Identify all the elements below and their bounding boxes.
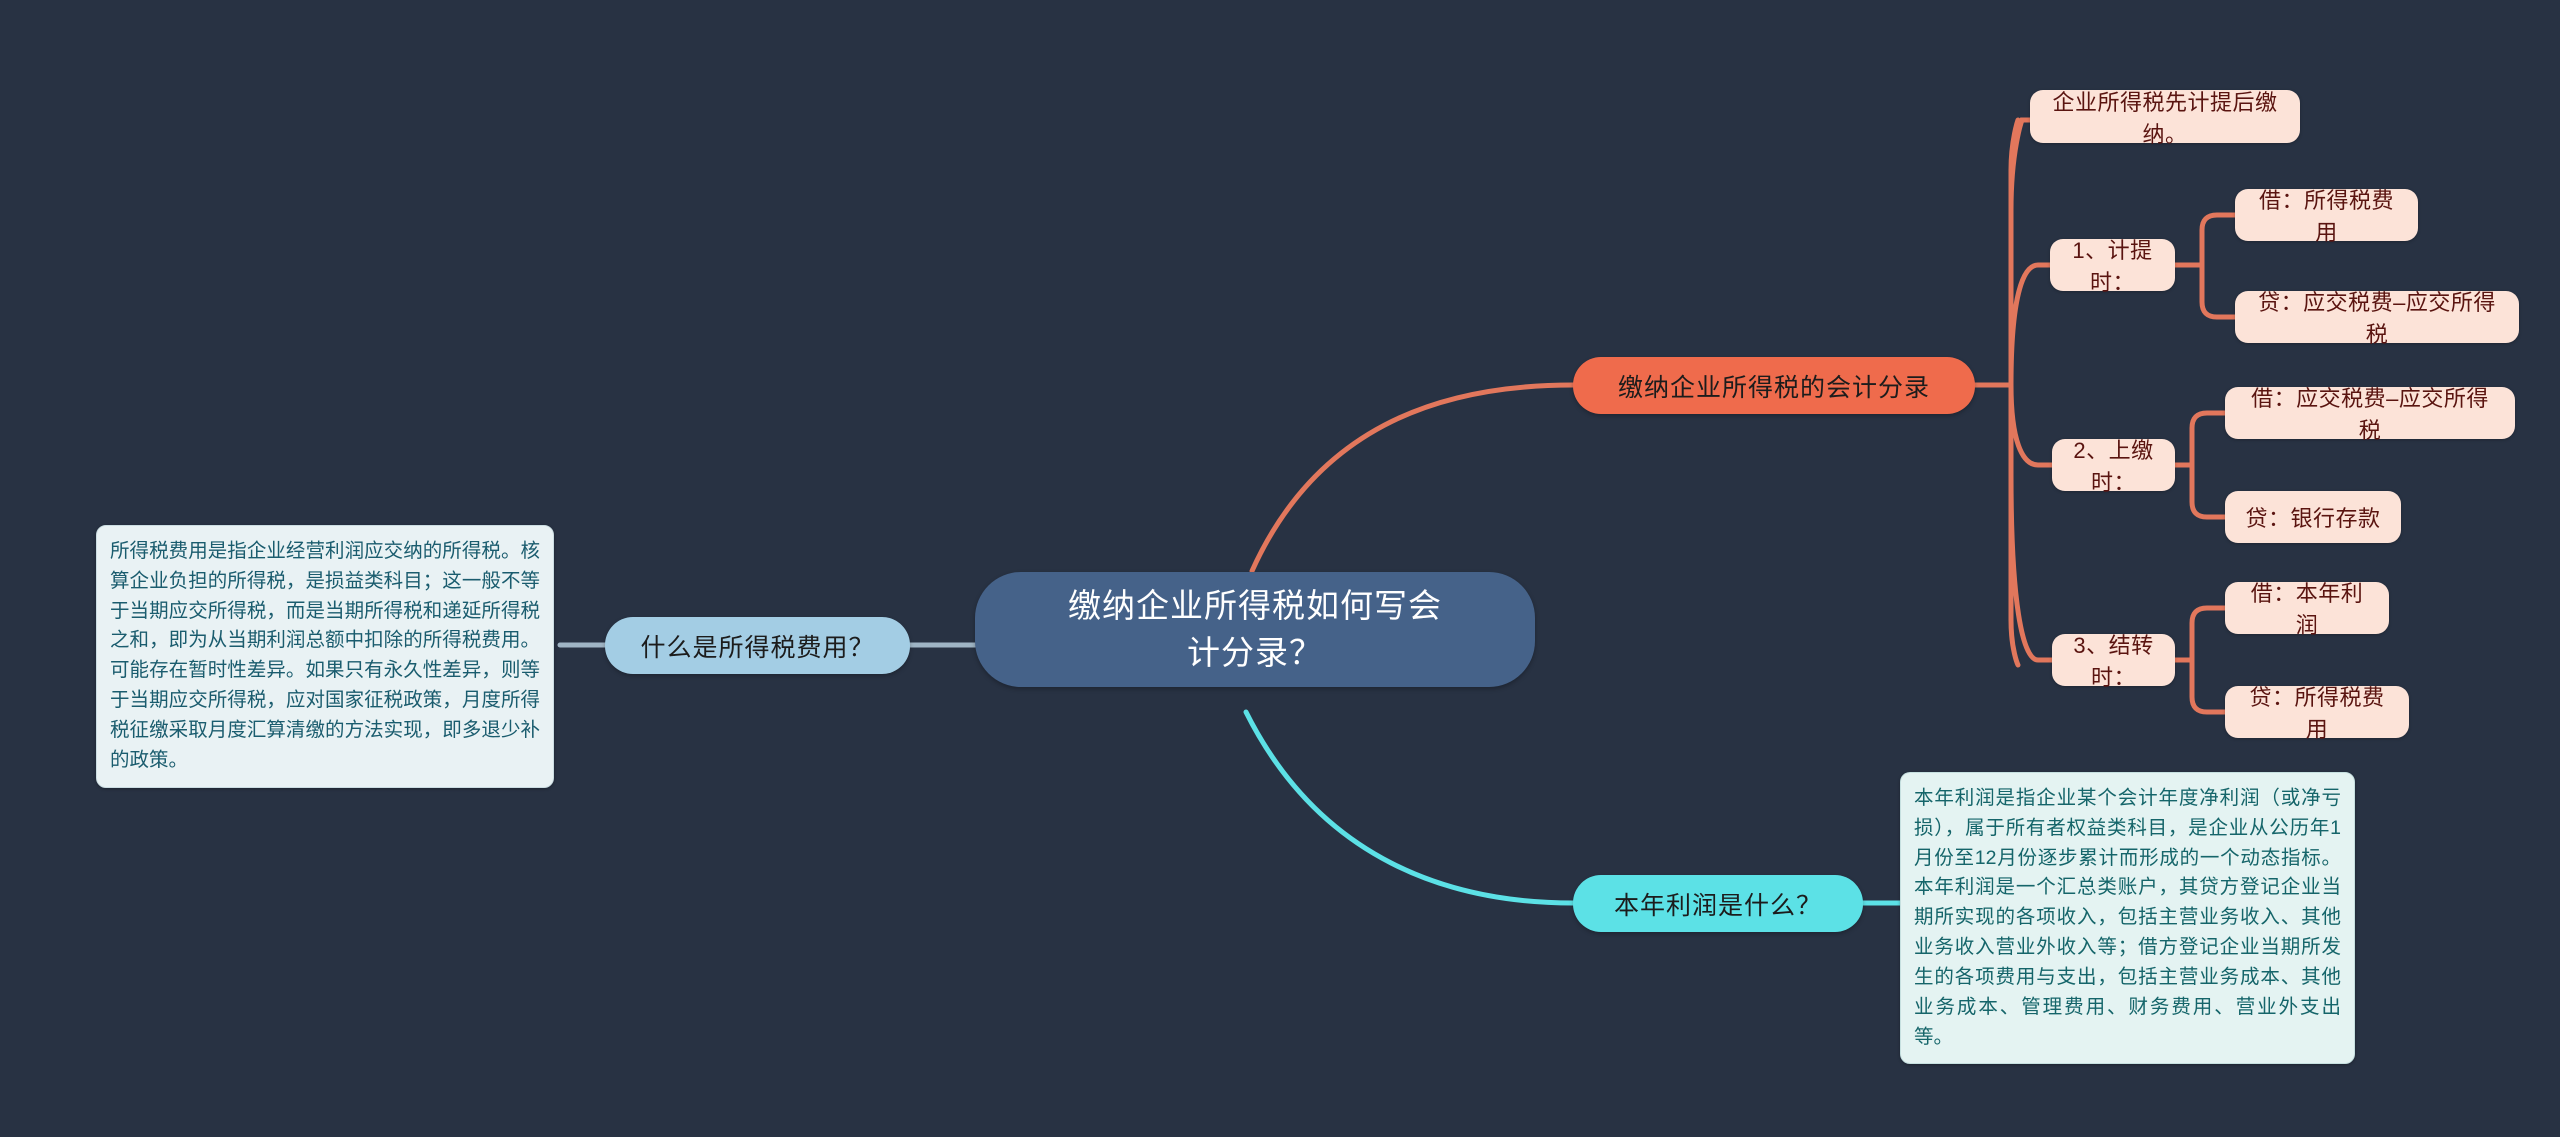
connector-group1-to-entry1 [2202, 215, 2235, 265]
root-node[interactable]: 缴纳企业所得税如何写会 计分录？ [975, 572, 1535, 687]
entry-node-accrual-credit[interactable]: 贷：应交税费–应交所得税 [2235, 291, 2519, 343]
entry-node-payment-debit[interactable]: 借：应交税费–应交所得税 [2225, 387, 2515, 439]
entry-node-carryforward-credit[interactable]: 贷：所得税费用 [2225, 686, 2409, 738]
branch-node-what-is-current-year-profit[interactable]: 本年利润是什么？ [1573, 875, 1863, 932]
connector-orange-trunk [2011, 120, 2018, 665]
group-node-payment[interactable]: 2、上缴时： [2052, 439, 2175, 491]
note-income-tax-expense: 所得税费用是指企业经营利润应交纳的所得税。核算企业负担的所得税，是损益类科目；这… [96, 525, 554, 788]
note-current-year-profit: 本年利润是指企业某个会计年度净利润（或净亏损），属于所有者权益类科目，是企业从公… [1900, 772, 2355, 1064]
connector-trunk-to-group-1 [2011, 265, 2050, 385]
connector-root-to-orange-branch [1252, 385, 1573, 571]
connector-group1-to-entry2 [2202, 265, 2235, 317]
connector-group3-to-entry2 [2192, 660, 2225, 712]
connector-trunk-to-top-note [2011, 120, 2030, 385]
connector-group2-to-entry2 [2192, 465, 2225, 517]
mindmap-canvas: 所得税费用是指企业经营利润应交纳的所得税。核算企业负担的所得税，是损益类科目；这… [0, 0, 2560, 1137]
branch-node-accounting-entries[interactable]: 缴纳企业所得税的会计分录 [1573, 357, 1975, 414]
connector-root-to-cyan-branch [1246, 712, 1573, 903]
entry-node-payment-credit[interactable]: 贷：银行存款 [2225, 491, 2401, 543]
connector-group2-to-entry1 [2192, 413, 2225, 465]
group-node-carryforward[interactable]: 3、结转时： [2052, 634, 2175, 686]
connector-trunk-to-group-2 [2011, 385, 2052, 465]
connector-group3-to-entry1 [2192, 608, 2225, 660]
entry-node-accrual-debit[interactable]: 借：所得税费用 [2235, 189, 2418, 241]
entry-node-carryforward-debit[interactable]: 借：本年利润 [2225, 582, 2389, 634]
branch-node-what-is-income-tax-expense[interactable]: 什么是所得税费用？ [605, 617, 910, 674]
group-node-accrual[interactable]: 1、计提时： [2050, 239, 2175, 291]
note-accrue-then-pay[interactable]: 企业所得税先计提后缴纳。 [2030, 90, 2300, 143]
connector-trunk-to-group-3 [2011, 475, 2052, 660]
